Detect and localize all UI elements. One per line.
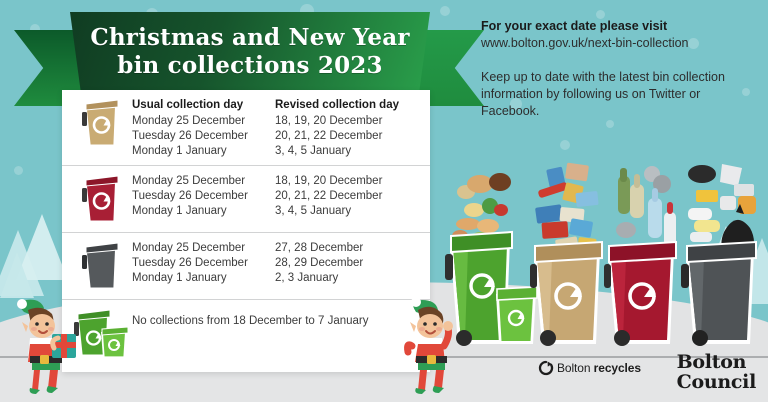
copy-paragraph: Keep up to date with the latest bin coll… [481,69,759,120]
row-text-cell: No collections from 18 December to 7 Jan… [132,306,420,329]
usual-day: Monday 25 December [132,174,275,189]
row-text-cell: Monday 25 December 18, 19, 20 December T… [132,172,420,219]
schedule-line: Monday 1 January 3, 4, 5 January [132,144,420,159]
table-row: Monday 25 December 18, 19, 20 December T… [62,165,430,232]
title-banner: Christmas and New Year bin collections 2… [14,12,484,94]
bokeh-dot [560,140,570,150]
green-wheelie-bin-icon [73,308,129,362]
header-revised: Revised collection day [275,98,420,113]
bolton-council-logo: Bolton Council [677,352,756,392]
usual-day: Monday 25 December [132,114,275,129]
ribbon-body: Christmas and New Year bin collections 2… [70,12,430,92]
copy-heading: For your exact date please visit [481,18,759,35]
poster-canvas: Christmas and New Year bin collections 2… [0,0,768,402]
logo-group: Bolton recycles Bolton Council [530,352,760,394]
schedule-line: Monday 25 December 18, 19, 20 December [132,114,420,129]
burgundy-wheelie-bin-icon [81,174,121,226]
grey-general-waste-bin [680,162,768,352]
revised-day: 2, 3 January [275,271,420,286]
table-row: Usual collection day Revised collection … [62,90,430,165]
row-text-cell: Usual collection day Revised collection … [132,96,420,159]
revised-day: 18, 19, 20 December [275,174,420,189]
usual-day: Tuesday 26 December [132,129,275,144]
paper-card-items [535,163,599,254]
recycles-wordmark: Bolton recycles [557,361,641,375]
usual-day: Monday 1 January [132,204,275,219]
no-collection-note: No collections from 18 December to 7 Jan… [132,308,420,329]
bin-icon-cell [70,172,132,226]
recycles-word-bolton: Bolton [557,361,590,375]
pine-tree [0,252,34,298]
usual-day: Tuesday 26 December [132,256,275,271]
schedule-line: Monday 25 December 18, 19, 20 December [132,174,420,189]
table-row: Monday 25 December 27, 28 December Tuesd… [62,232,430,299]
recycling-arrow-icon [538,360,554,376]
usual-day: Monday 25 December [132,241,275,256]
bokeh-dot [606,120,614,128]
header-usual: Usual collection day [132,98,275,113]
bin-icon-cell [70,239,132,293]
revised-day: 18, 19, 20 December [275,114,420,129]
revised-day: 20, 21, 22 December [275,189,420,204]
bin-icon-cell [70,96,132,150]
bins-illustration [444,162,768,352]
grey-wheelie-bin-icon [81,241,121,293]
revised-day: 28, 29 December [275,256,420,271]
banner-title-line-1: Christmas and New Year [90,24,409,52]
council-line-2: Council [677,372,756,392]
bin-collection-url[interactable]: www.bolton.gov.uk/next-bin-collection [481,35,759,52]
council-line-1: Bolton [677,352,756,372]
glass-plastic-items [616,166,676,246]
burgundy-glass-plastic-bin [604,162,686,352]
revised-day: 20, 21, 22 December [275,129,420,144]
usual-day: Monday 1 January [132,144,275,159]
usual-day: Monday 1 January [132,271,275,286]
bokeh-dot [14,166,23,175]
schedule-card: Usual collection day Revised collection … [62,90,430,372]
schedule-line: Tuesday 26 December 20, 21, 22 December [132,189,420,204]
elf-waving [398,296,460,396]
row-text-cell: Monday 25 December 27, 28 December Tuesd… [132,239,420,286]
revised-day: 27, 28 December [275,241,420,256]
revised-day: 3, 4, 5 January [275,204,420,219]
beige-wheelie-bin-icon [81,98,121,150]
recycles-word-recycles: recycles [594,361,641,375]
schedule-line: Tuesday 26 December 28, 29 December [132,256,420,271]
beige-paper-card-bin [530,162,612,352]
info-copy-block: For your exact date please visit www.bol… [481,18,759,120]
schedule-line: Monday 25 December 27, 28 December [132,241,420,256]
bolton-recycles-logo: Bolton recycles [538,360,641,376]
elf-with-present [6,296,80,396]
revised-day: 3, 4, 5 January [275,144,420,159]
no-collection-row: No collections from 18 December to 7 Jan… [62,299,430,368]
schedule-line: Monday 1 January 2, 3 January [132,271,420,286]
schedule-line: Monday 1 January 3, 4, 5 January [132,204,420,219]
banner-title-line-2: bin collections 2023 [117,52,382,80]
table-header-row: Usual collection day Revised collection … [132,98,420,113]
schedule-line: Tuesday 26 December 20, 21, 22 December [132,129,420,144]
usual-day: Tuesday 26 December [132,189,275,204]
